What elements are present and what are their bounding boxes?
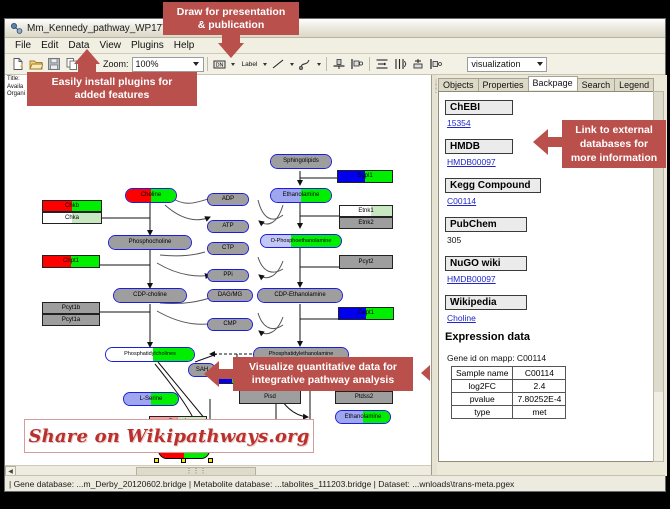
metabolite-node-cmp[interactable]: CMP	[207, 318, 253, 331]
backpage-header-nugo-wiki: NuGO wiki	[445, 256, 527, 271]
gene-node-etnk2[interactable]: Etnk2	[339, 217, 393, 229]
tab-legend[interactable]: Legend	[614, 78, 654, 91]
visualization-chevron-down-icon[interactable]	[533, 58, 546, 71]
gene-node-pcyt1a[interactable]: Pcyt1a	[42, 314, 100, 326]
toolbar-separator-3	[369, 57, 370, 71]
shape-dropdown-icon[interactable]	[314, 57, 323, 72]
gene-id-on-mapp: Gene id on mapp: C00114	[447, 353, 652, 363]
metabolite-node-sphingolipids[interactable]: Sphingolipids	[270, 154, 332, 169]
backpage-link-wikipedia[interactable]: Choline	[447, 313, 652, 323]
expr-value-sample-name: C00114	[513, 367, 566, 380]
callout-visualize-arrow-icon	[204, 361, 219, 387]
visualization-value: visualization	[468, 59, 533, 69]
label-dropdown-icon[interactable]	[260, 57, 269, 72]
selection-handle-sw[interactable]	[154, 458, 159, 463]
svg-text:DN: DN	[215, 62, 223, 68]
tab-objects[interactable]: Objects	[438, 78, 479, 91]
split-divider[interactable]: ⋮⋮⋮	[432, 75, 437, 476]
title-bar: Mm_Kennedy_pathway_WP1771_45176.gpml	[5, 19, 665, 38]
callout-link: Link to external databases for more info…	[562, 120, 666, 168]
selection-handle-se[interactable]	[208, 458, 213, 463]
metabolite-node-l-serine-left[interactable]: L-Serine	[123, 392, 179, 406]
gene-node-pcyt1b[interactable]: Pcyt1b	[42, 302, 100, 314]
bring-to-front-icon[interactable]	[427, 56, 444, 73]
menu-bar: File Edit Data View Plugins Help	[5, 38, 665, 54]
callout-plugins: Easily install plugins for added feature…	[27, 72, 197, 106]
backpage-value-pubchem: 305	[447, 235, 652, 245]
status-bar: | Gene database: ...m_Derby_20120602.bri…	[5, 475, 665, 491]
metabolite-node-ethanolamine-top[interactable]: Ethanolamine	[270, 188, 332, 203]
pathway-canvas[interactable]: Title: Availa Organi	[5, 75, 431, 476]
gene-node-chka[interactable]: Chka	[42, 212, 102, 224]
screenshot-root: Mm_Kennedy_pathway_WP1771_45176.gpml Fil…	[0, 0, 670, 509]
expr-key-pvalue: pvalue	[452, 393, 513, 406]
callout-share: Share on Wikipathways.org	[24, 419, 314, 453]
table-row: pvalue 7.80252E-4	[452, 393, 566, 406]
expr-key-sample-name: Sample name	[452, 367, 513, 380]
metabolite-node-cdp-choline[interactable]: CDP-choline	[113, 288, 187, 303]
backpage-header-wikipedia: Wikipedia	[445, 295, 527, 310]
expr-value-type: met	[513, 406, 566, 419]
callout-visualize: Visualize quantitative data for integrat…	[233, 357, 413, 391]
line-dropdown-icon[interactable]	[287, 57, 296, 72]
metabolite-node-adp[interactable]: ADP	[207, 193, 249, 206]
visualization-combo[interactable]: visualization	[467, 57, 547, 72]
metabolite-node-dag-mg[interactable]: DAG/MG	[207, 289, 253, 302]
selection-handle-s[interactable]	[181, 458, 186, 463]
gene-node-chpt1[interactable]: Chpt1	[42, 255, 100, 268]
table-row: type met	[452, 406, 566, 419]
table-row: log2FC 2.4	[452, 380, 566, 393]
metabolite-node-ethanolamine-right[interactable]: Ethanolamine	[335, 410, 391, 424]
share-text: Share on Wikipathways.org	[28, 426, 309, 447]
gene-node-pcyt2[interactable]: Pcyt2	[339, 255, 393, 269]
zoom-value: 100%	[133, 59, 190, 69]
open-folder-icon[interactable]	[27, 56, 44, 73]
callout-draw-arrow-icon	[218, 43, 244, 58]
tab-backpage[interactable]: Backpage	[528, 76, 578, 90]
backpage-link-kegg[interactable]: C00114	[447, 196, 652, 206]
line-tool-icon[interactable]	[269, 56, 286, 73]
tab-search[interactable]: Search	[577, 78, 616, 91]
datanode-dropdown-icon[interactable]	[229, 57, 238, 72]
chevron-down-icon[interactable]	[190, 58, 203, 71]
menu-edit[interactable]: Edit	[36, 40, 63, 51]
metabolite-node-cdp-ethanolamine[interactable]: CDP-Ethanolamine	[257, 288, 343, 303]
gene-node-ptdss2[interactable]: Ptdss2	[335, 391, 393, 404]
side-panel-tabs: Objects Properties Backpage Search Legen…	[438, 76, 653, 91]
expression-data-table: Sample name C00114 log2FC 2.4 pvalue 7.8…	[451, 366, 566, 419]
callout-expression-arrow-icon	[421, 365, 430, 381]
backpage-header-kegg-compound: Kegg Compound	[445, 178, 541, 193]
backpage-header-hmdb: HMDB	[445, 139, 513, 154]
metabolite-node-choline[interactable]: Choline	[125, 188, 177, 203]
zoom-label: Zoom:	[103, 59, 129, 69]
status-text: | Gene database: ...m_Derby_20120602.bri…	[9, 479, 514, 489]
shape-tool-icon[interactable]	[296, 56, 313, 73]
expr-value-pvalue: 7.80252E-4	[513, 393, 566, 406]
metabolite-node-phosphocholine[interactable]: Phosphocholine	[108, 235, 192, 250]
save-icon[interactable]	[45, 56, 62, 73]
gene-node-cept1[interactable]: Cept1	[338, 307, 394, 320]
backpage-header-pubchem: PubChem	[445, 217, 527, 232]
callout-draw: Draw for presentation & publication	[163, 2, 299, 35]
datanode-icon[interactable]: DN	[211, 56, 228, 73]
metabolite-node-atp[interactable]: ATP	[207, 220, 249, 233]
label-tool-label: Label	[242, 61, 258, 68]
gene-node-sgpl1[interactable]: Sgpl1	[337, 170, 393, 183]
scroll-grip-icon: ⋮⋮⋮	[186, 468, 207, 475]
zoom-combo[interactable]: 100%	[132, 57, 204, 72]
align-left-icon[interactable]	[348, 56, 365, 73]
menu-file[interactable]: File	[10, 40, 36, 51]
metabolite-node-o-phosphoethanolamine[interactable]: O-Phosphoethanolamine	[260, 234, 342, 248]
callout-link-arrow-icon	[533, 129, 548, 155]
toolbar-separator	[207, 57, 208, 71]
callout-plugins-arrow-icon	[74, 49, 100, 64]
new-file-icon[interactable]	[9, 56, 26, 73]
expr-key-type: type	[452, 406, 513, 419]
tab-properties[interactable]: Properties	[478, 78, 529, 91]
menu-plugins[interactable]: Plugins	[126, 40, 169, 51]
metabolite-node-ctp[interactable]: CTP	[207, 242, 249, 255]
table-row: Sample name C00114	[452, 367, 566, 380]
backpage-link-nugo[interactable]: HMDB00097	[447, 274, 652, 284]
pathvisio-icon	[10, 22, 23, 35]
expression-data-title: Expression data	[445, 331, 652, 343]
distribute-horizontal-icon[interactable]	[373, 56, 390, 73]
gene-node-chkb[interactable]: Chkb	[42, 200, 102, 212]
expr-key-log2fc: log2FC	[452, 380, 513, 393]
gene-node-pisd[interactable]: Pisd	[239, 390, 301, 404]
menu-help[interactable]: Help	[169, 40, 200, 51]
align-top-icon[interactable]	[330, 56, 347, 73]
distribute-vertical-icon[interactable]	[391, 56, 408, 73]
gene-node-etnk1[interactable]: Etnk1	[339, 205, 393, 217]
expr-value-log2fc: 2.4	[513, 380, 566, 393]
metabolite-node-phosphatidylcholines[interactable]: Phosphatidylcholines	[105, 347, 195, 362]
backpage-header-chebi: ChEBI	[445, 100, 513, 115]
toolbar-separator-2	[326, 57, 327, 71]
metabolite-node-ppi[interactable]: PPi	[207, 269, 249, 282]
stack-icon[interactable]	[409, 56, 426, 73]
